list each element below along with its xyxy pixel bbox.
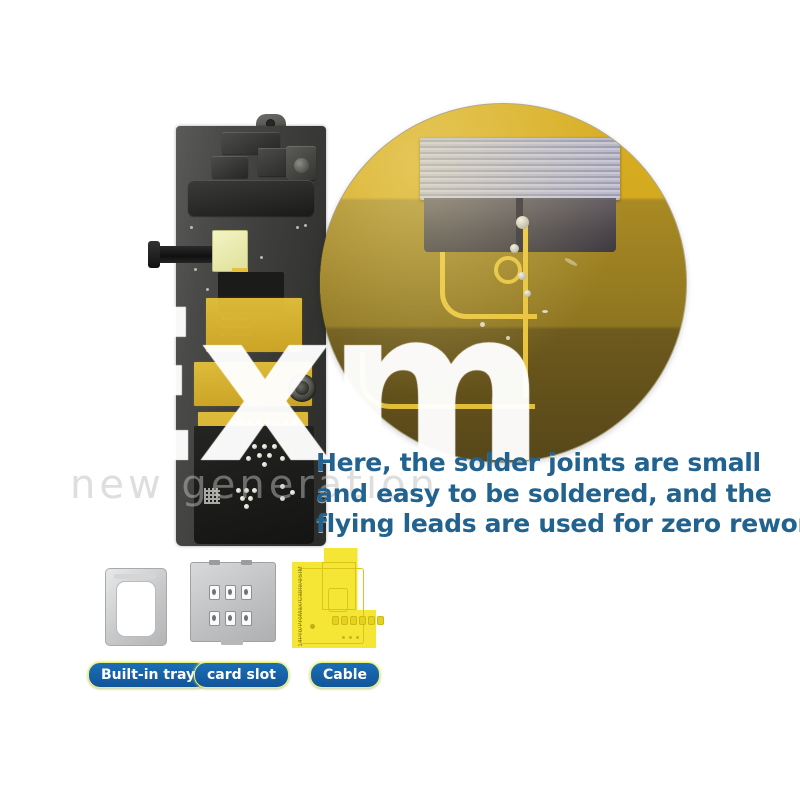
slot-contact: [209, 585, 220, 600]
lighting-sheen: [320, 104, 686, 462]
board-screw-dot: [260, 256, 263, 259]
emi-shield-main: [188, 180, 314, 216]
cable-printed-text: 14Pro/ProMax/Cable/eSIM: [298, 566, 304, 647]
board-body: 820-01234-A APL1234 0519 N0 1 3301 015 8…: [176, 126, 326, 546]
camera-connector-ring: [288, 374, 316, 402]
sim-card-tray: [105, 568, 167, 646]
caption-text: Here, the solder joints are small and ea…: [316, 448, 786, 540]
caption-line-1: Here, the solder joints are small: [316, 448, 786, 479]
slot-foot: [221, 640, 243, 645]
board-screw-dot: [206, 288, 209, 291]
cable-via-dots: [342, 636, 359, 639]
slot-tab: [241, 560, 252, 565]
cable-contact-pads: [332, 616, 384, 625]
board-screw-dot: [194, 268, 197, 271]
sim-card-slot: [190, 562, 276, 642]
kapton-tape-upper: [206, 298, 302, 352]
slot-contact: [241, 585, 252, 600]
magnified-solder-joint-inset: [320, 104, 686, 462]
board-screw-dot: [190, 226, 193, 229]
board-screw-dot: [296, 226, 299, 229]
black-flex-ribbon: [148, 246, 212, 263]
label-card-slot[interactable]: card slot: [194, 662, 289, 688]
caption-line-2: and easy to be soldered, and the: [316, 479, 786, 510]
emi-shield-c: [212, 156, 248, 178]
slot-contact: [225, 611, 236, 626]
cable-via: [310, 624, 315, 629]
slot-contact: [241, 611, 252, 626]
slot-contact: [209, 611, 220, 626]
slot-contact: [225, 585, 236, 600]
slot-tab: [209, 560, 220, 565]
emi-shield-round: [286, 146, 316, 180]
label-built-in-tray[interactable]: Built-in tray: [88, 662, 208, 688]
illustration-canvas: 820-01234-A APL1234 0519 N0 1 3301 015 8…: [0, 0, 800, 800]
cable-trace: [328, 588, 348, 612]
gold-contact-pad: [212, 230, 248, 272]
data-matrix-code: [204, 488, 220, 504]
label-cable[interactable]: Cable: [310, 662, 380, 688]
yellow-flex-cable: 14Pro/ProMax/Cable/eSIM: [292, 548, 376, 648]
caption-line-3: flying leads are used for zero rework: [316, 509, 786, 540]
lower-pcb-section: [194, 426, 314, 544]
contact-pad-row: [238, 420, 298, 426]
board-screw-dot: [304, 224, 307, 227]
silkscreen-text: 820-0001-A: [234, 370, 259, 375]
